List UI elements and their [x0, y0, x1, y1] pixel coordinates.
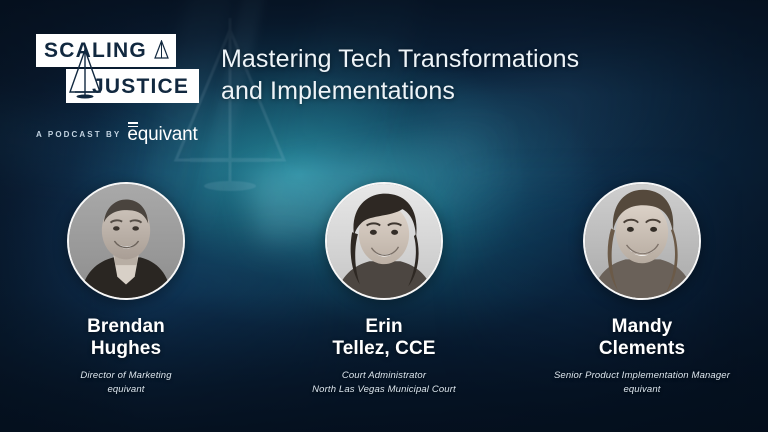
- speaker-name: Erin Tellez, CCE: [332, 316, 435, 360]
- speaker-role: Court Administrator: [342, 369, 426, 382]
- speaker-org: equivant: [623, 383, 660, 396]
- speaker-card-erin-tellez: Erin Tellez, CCE Court Administrator Nor…: [284, 182, 484, 396]
- byline-brand-text: equivant: [127, 124, 197, 145]
- speakers-row: Brendan Hughes Director of Marketing equ…: [0, 182, 768, 396]
- avatar: [325, 182, 443, 300]
- speaker-last-name: Clements: [599, 338, 685, 360]
- speaker-org: North Las Vegas Municipal Court: [312, 383, 456, 396]
- page-title: Mastering Tech Transformations and Imple…: [221, 43, 701, 107]
- logo-byline: A PODCAST BY equivant: [36, 122, 204, 146]
- speaker-card-mandy-clements: Mandy Clements Senior Product Implementa…: [542, 182, 742, 396]
- speaker-card-brendan-hughes: Brendan Hughes Director of Marketing equ…: [26, 182, 226, 396]
- headshot-erin-tellez: [327, 184, 441, 298]
- avatar: [583, 182, 701, 300]
- speaker-name: Mandy Clements: [599, 316, 685, 360]
- scales-of-justice-icon: [66, 46, 104, 104]
- page-title-line-2: and Implementations: [221, 75, 701, 107]
- podcast-title-slide: SCALING JUSTICE A PODCAST BY: [0, 0, 768, 432]
- page-title-line-1: Mastering Tech Transformations: [221, 43, 701, 75]
- headshot-brendan-hughes: [69, 184, 183, 298]
- headshot-mandy-clements: [585, 184, 699, 298]
- speaker-last-name: Tellez, CCE: [332, 338, 435, 360]
- logo-box-scaling: SCALING: [36, 34, 176, 67]
- speaker-first-name: Brendan: [87, 316, 165, 338]
- speaker-role: Senior Product Implementation Manager: [554, 369, 730, 382]
- speaker-first-name: Erin: [332, 316, 435, 338]
- speaker-first-name: Mandy: [599, 316, 685, 338]
- byline-prefix: A PODCAST BY: [36, 130, 121, 139]
- speaker-role: Director of Marketing: [80, 369, 171, 382]
- equivant-macron-icon-2: [128, 126, 138, 128]
- avatar: [67, 182, 185, 300]
- speaker-last-name: Hughes: [87, 338, 165, 360]
- logo-wordmark: SCALING JUSTICE: [36, 34, 204, 106]
- logo-word-justice: JUSTICE: [92, 76, 189, 97]
- byline-brand: equivant: [127, 122, 197, 146]
- podcast-logo[interactable]: SCALING JUSTICE A PODCAST BY: [36, 34, 204, 146]
- speaker-org: equivant: [107, 383, 144, 396]
- speaker-name: Brendan Hughes: [87, 316, 165, 360]
- scales-small-icon: [153, 40, 170, 62]
- equivant-macron-icon: [128, 122, 138, 124]
